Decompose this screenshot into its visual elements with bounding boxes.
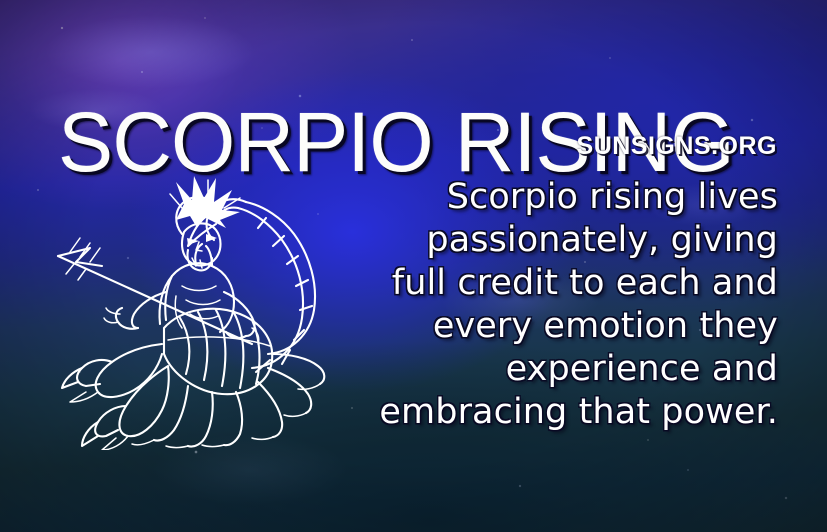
tagline-line: passionately, giving <box>238 219 778 262</box>
brand-watermark: SUNSIGNS.ORG <box>577 132 777 161</box>
tagline-line: experience and <box>238 348 778 391</box>
tagline-line: full credit to each and <box>238 262 778 305</box>
scorpio-rising-poster: SCORPIO RISING SUNSIGNS.ORG Scorpio risi… <box>0 0 827 532</box>
tagline-text: Scorpio rising lives passionately, givin… <box>238 176 778 434</box>
tagline-line: every emotion they <box>238 305 778 348</box>
tagline-line: Scorpio rising lives <box>238 176 778 219</box>
tagline-line: embracing that power. <box>238 391 778 434</box>
